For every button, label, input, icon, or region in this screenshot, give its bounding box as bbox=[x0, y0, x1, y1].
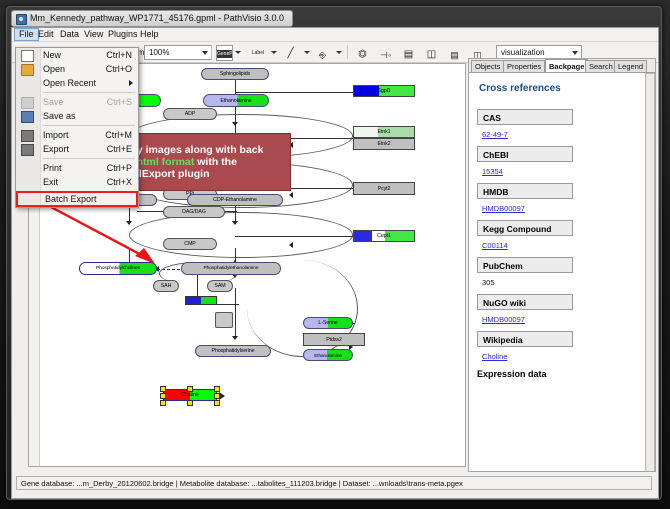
xref-label-cas: CAS bbox=[477, 109, 573, 125]
line-sgpl1 bbox=[235, 92, 353, 93]
save-icon bbox=[21, 97, 34, 109]
xref-label-kegg: Kegg Compound bbox=[477, 220, 573, 236]
selection-handle-n[interactable] bbox=[187, 386, 193, 392]
window-title-pill: Mm_Kennedy_pathway_WP1771_45176.gpml - P… bbox=[11, 10, 293, 27]
save-as-icon bbox=[21, 111, 34, 123]
shape-button[interactable]: ⎆ bbox=[314, 45, 331, 61]
application-window: Mm_Kennedy_pathway_WP1771_45176.gpml - P… bbox=[6, 6, 662, 500]
file-menu-item-import[interactable]: Import Ctrl+M bbox=[16, 128, 138, 142]
align-vertical-icon: ▤ bbox=[401, 50, 416, 60]
callout-line-2c: with the bbox=[194, 156, 237, 168]
zoom-value: 100% bbox=[149, 48, 169, 57]
arrowhead-cmp-in2 bbox=[289, 242, 293, 248]
align-left-button[interactable]: ⊣◦ bbox=[377, 45, 394, 61]
xref-label-nugo: NuGO wiki bbox=[477, 294, 573, 310]
file-menu-item-save-as[interactable]: Save as bbox=[16, 109, 138, 123]
file-menu-item-batch-export[interactable]: Batch Export bbox=[16, 191, 138, 207]
selection-handle-w[interactable] bbox=[160, 393, 166, 399]
geneproduct-icon: GeneProduct bbox=[217, 50, 232, 58]
chevron-down-icon bbox=[202, 51, 208, 55]
toolbar-separator-2 bbox=[347, 45, 348, 59]
file-menu-item-new[interactable]: New Ctrl+N bbox=[16, 48, 138, 62]
file-menu-item-print[interactable]: Print Ctrl+P bbox=[16, 161, 138, 175]
menu-data[interactable]: Data bbox=[56, 29, 83, 40]
align-horizontal-icon: ◫ bbox=[424, 50, 439, 60]
file-menu-dropdown[interactable]: New Ctrl+N Open Ctrl+O Open Recent Save … bbox=[15, 47, 139, 208]
node-l-serine[interactable]: L-Serine bbox=[303, 317, 353, 329]
window-title: Mm_Kennedy_pathway_WP1771_45176.gpml - P… bbox=[30, 13, 284, 23]
backpage-content: Cross references CAS 62-49-7 ChEBI 15354… bbox=[469, 72, 655, 472]
status-bar: Gene database: ...m_Derby_20120602.bridg… bbox=[16, 476, 652, 490]
title-bar: Mm_Kennedy_pathway_WP1771_45176.gpml - P… bbox=[7, 7, 661, 27]
node-grey-small-box[interactable] bbox=[215, 312, 233, 328]
file-menu-separator-2 bbox=[43, 125, 135, 126]
align-top-icon: ⏣ bbox=[355, 50, 370, 60]
shape-icon: ⎆ bbox=[315, 50, 330, 60]
menu-edit[interactable]: Edit bbox=[34, 29, 58, 40]
xref-label-pubchem: PubChem bbox=[477, 257, 573, 273]
xref-value-chebi[interactable]: 15354 bbox=[482, 167, 503, 176]
xref-value-nugo[interactable]: HMDB00097 bbox=[482, 315, 525, 324]
node-etnk1[interactable]: Etnk1 bbox=[353, 126, 415, 138]
file-menu-item-open-recent[interactable]: Open Recent bbox=[16, 76, 138, 90]
export-icon bbox=[21, 144, 34, 156]
line-dropdown-caret[interactable] bbox=[304, 51, 310, 54]
line-cept1 bbox=[235, 236, 353, 237]
right-side-panel: Objects Properties Backpage Search Legen… bbox=[468, 58, 656, 472]
stack-button[interactable]: ▤ bbox=[446, 45, 463, 61]
datanode-dropdown-caret[interactable] bbox=[235, 51, 241, 54]
new-file-icon bbox=[21, 50, 34, 62]
submenu-arrow-icon bbox=[129, 80, 133, 86]
selection-handle-se[interactable] bbox=[214, 400, 220, 406]
cursor-arrow-icon bbox=[219, 392, 225, 400]
visualization-value: visualization bbox=[501, 48, 545, 57]
node-sah[interactable]: SAH bbox=[153, 280, 179, 292]
xref-label-wikipedia: Wikipedia bbox=[477, 331, 573, 347]
xref-value-wikipedia[interactable]: Choline bbox=[482, 352, 507, 361]
label-icon: Label bbox=[247, 50, 269, 56]
node-phosphatidylserine[interactable]: Phosphatidylserine bbox=[195, 345, 271, 357]
xref-label-chebi: ChEBI bbox=[477, 146, 573, 162]
folder-open-icon bbox=[21, 64, 34, 76]
xref-value-cas[interactable]: 62-49-7 bbox=[482, 130, 508, 139]
node-ethanolamine-2[interactable]: Ethanolamine bbox=[303, 349, 353, 361]
datanode-button[interactable]: GeneProduct bbox=[216, 45, 233, 61]
line-icon: ╱ bbox=[283, 50, 298, 58]
node-ptdss2[interactable]: Ptdss2 bbox=[303, 333, 365, 346]
node-etnk2[interactable]: Etnk2 bbox=[353, 138, 415, 150]
node-sam[interactable]: SAM bbox=[207, 280, 233, 292]
arrowhead-8 bbox=[232, 221, 238, 225]
panel-tabs: Objects Properties Backpage Search Legen… bbox=[469, 59, 655, 72]
selection-handle-sw[interactable] bbox=[160, 400, 166, 406]
node-cept1[interactable]: Cept1 bbox=[353, 230, 415, 242]
file-menu-separator-1 bbox=[43, 92, 135, 93]
node-phosphatidylethanolamine[interactable]: Phosphatidylethanolamine bbox=[181, 262, 281, 275]
zoom-combo[interactable]: 100% bbox=[144, 45, 212, 60]
node-adp[interactable]: ADP bbox=[163, 108, 217, 120]
xref-label-hmdb: HMDB bbox=[477, 183, 573, 199]
align-horizontal-button[interactable]: ◫ bbox=[423, 45, 440, 61]
panel-scrollbar[interactable] bbox=[645, 73, 655, 472]
selection-handle-nw[interactable] bbox=[160, 386, 166, 392]
line-button[interactable]: ╱ bbox=[282, 45, 299, 61]
align-left-icon: ⊣◦ bbox=[378, 50, 393, 60]
menu-help[interactable]: Help bbox=[136, 29, 163, 40]
node-dag-dag[interactable]: DAG/DAG bbox=[163, 206, 225, 218]
file-menu-item-exit[interactable]: Exit Ctrl+X bbox=[16, 175, 138, 189]
chevron-down-icon-2 bbox=[572, 51, 578, 55]
callout-highlight: html format bbox=[137, 156, 195, 168]
file-menu-item-save: Save Ctrl+S bbox=[16, 95, 138, 109]
menu-bar: File Edit Data View Plugins Help bbox=[12, 28, 658, 42]
node-cdp-ethanolamine[interactable]: CDP-Ethanolamine bbox=[187, 194, 283, 206]
desktop-background: Mm_Kennedy_pathway_WP1771_45176.gpml - P… bbox=[0, 0, 670, 509]
file-menu-item-export[interactable]: Export Ctrl+E bbox=[16, 142, 138, 156]
cross-references-heading: Cross references bbox=[479, 83, 561, 94]
node-small-gene-box[interactable] bbox=[185, 296, 217, 305]
shape-dropdown-caret[interactable] bbox=[336, 51, 342, 54]
align-vertical-button[interactable]: ▤ bbox=[400, 45, 417, 61]
toolbar-separator bbox=[211, 45, 212, 59]
arrowhead-10 bbox=[232, 336, 238, 340]
arrow-pe-ps bbox=[235, 288, 236, 338]
node-ethanolamine[interactable]: Ethanolamine bbox=[203, 94, 269, 107]
import-icon bbox=[21, 130, 34, 142]
xref-value-kegg[interactable]: C00114 bbox=[482, 241, 508, 250]
file-menu-separator-3 bbox=[43, 158, 135, 159]
node-sphingolipids[interactable]: Sphingolipids bbox=[201, 68, 269, 80]
selection-handle-s[interactable] bbox=[187, 400, 193, 406]
node-sgpl1[interactable]: Sgpl1 bbox=[353, 85, 415, 97]
file-menu-item-open[interactable]: Open Ctrl+O bbox=[16, 62, 138, 76]
xref-value-pubchem: 305 bbox=[482, 278, 495, 287]
xref-value-hmdb[interactable]: HMDB00097 bbox=[482, 204, 525, 213]
arrowhead-ppi-in2 bbox=[289, 192, 293, 198]
expression-data-heading: Expression data bbox=[477, 369, 547, 379]
arrowhead-6 bbox=[232, 122, 238, 126]
node-pcyt2[interactable]: Pcyt2 bbox=[353, 182, 415, 195]
label-button[interactable]: Label bbox=[246, 45, 270, 61]
red-pointer-arrow bbox=[47, 204, 163, 274]
node-cmp[interactable]: CMP bbox=[163, 238, 217, 250]
align-top-button[interactable]: ⏣ bbox=[354, 45, 371, 61]
label-dropdown-caret[interactable] bbox=[271, 51, 277, 54]
app-icon bbox=[16, 14, 27, 25]
stack-icon: ▤ bbox=[447, 50, 462, 60]
